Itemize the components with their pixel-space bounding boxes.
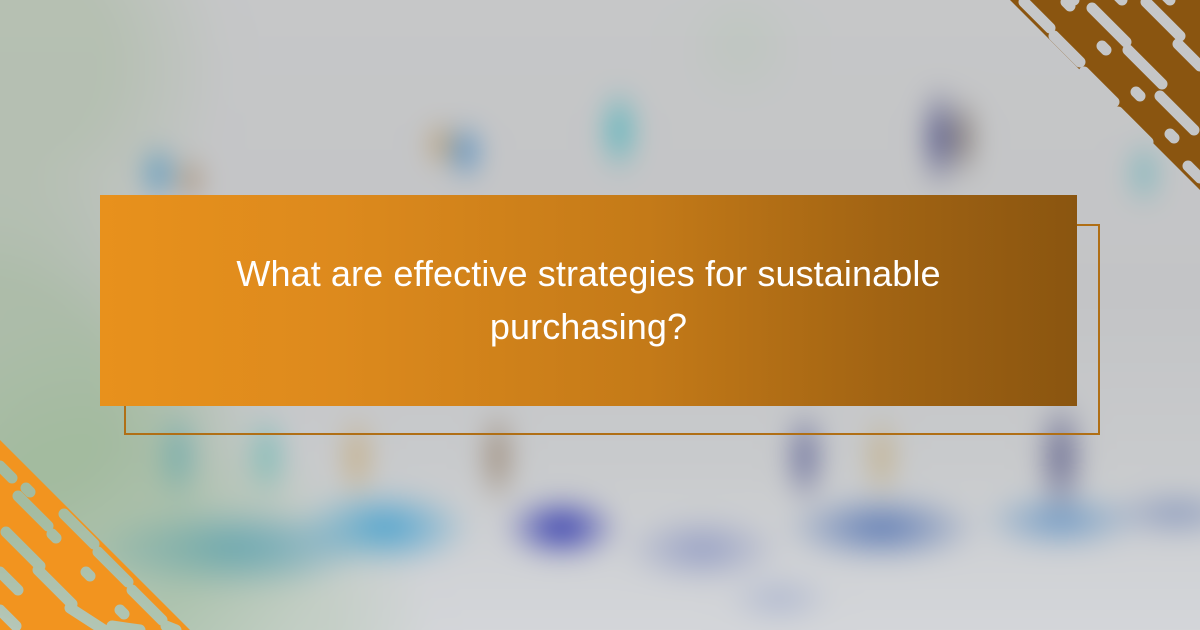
question-card-canvas: What are effective strategies for sustai… — [0, 0, 1200, 630]
dashed-triangle-bottom-left — [0, 440, 190, 630]
dashed-triangle-top-right — [1010, 0, 1200, 190]
question-text: What are effective strategies for sustai… — [189, 248, 989, 353]
question-banner: What are effective strategies for sustai… — [100, 195, 1077, 406]
